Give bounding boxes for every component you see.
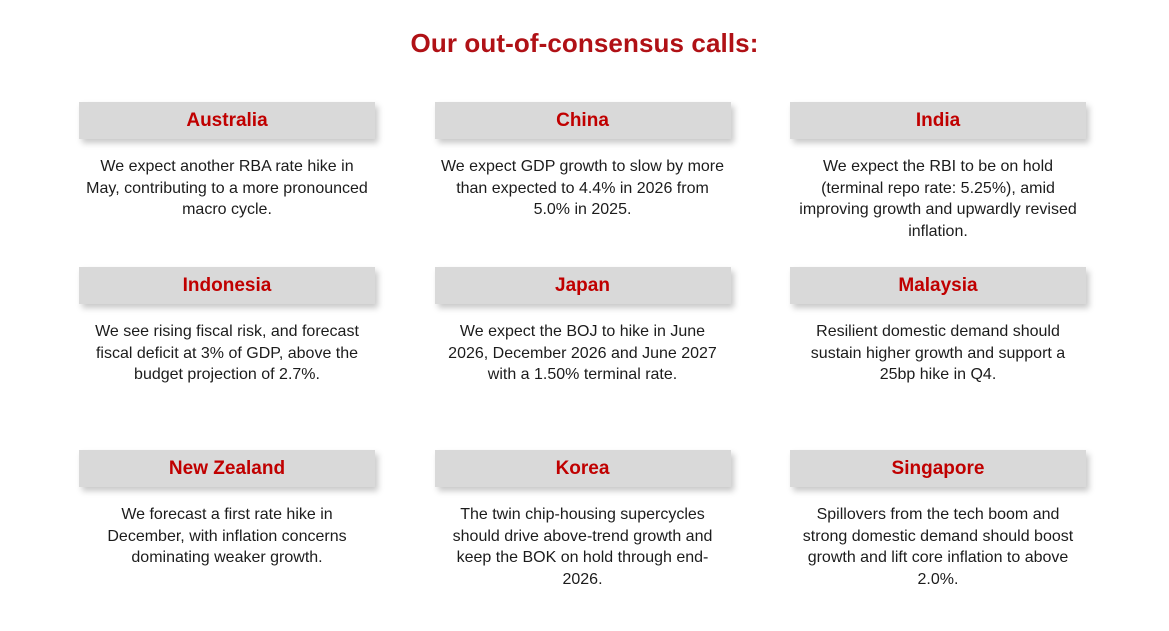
card-header-bar: New Zealand xyxy=(79,450,375,487)
country-card-korea[interactable]: Korea The twin chip-housing supercycles … xyxy=(435,450,731,600)
country-card-grid: Australia We expect another RBA rate hik… xyxy=(79,102,1086,600)
country-card-new-zealand[interactable]: New Zealand We forecast a first rate hik… xyxy=(79,450,375,600)
country-card-japan[interactable]: Japan We expect the BOJ to hike in June … xyxy=(435,267,731,450)
country-card-india[interactable]: India We expect the RBI to be on hold (t… xyxy=(790,102,1086,267)
card-header-bar: Australia xyxy=(79,102,375,139)
country-card-singapore[interactable]: Singapore Spillovers from the tech boom … xyxy=(790,450,1086,600)
country-call-text: We expect another RBA rate hike in May, … xyxy=(79,156,375,221)
country-name-label: New Zealand xyxy=(169,459,285,479)
country-card-indonesia[interactable]: Indonesia We see rising fiscal risk, and… xyxy=(79,267,375,450)
country-call-text: We forecast a first rate hike in Decembe… xyxy=(79,504,375,569)
country-name-label: Singapore xyxy=(892,459,985,479)
country-card-malaysia[interactable]: Malaysia Resilient domestic demand shoul… xyxy=(790,267,1086,450)
country-name-label: Korea xyxy=(556,459,610,479)
card-header-bar: India xyxy=(790,102,1086,139)
country-name-label: Malaysia xyxy=(898,276,977,296)
country-name-label: Indonesia xyxy=(183,276,272,296)
page-title: Our out-of-consensus calls: xyxy=(0,28,1169,58)
card-row: Australia We expect another RBA rate hik… xyxy=(79,102,1086,267)
country-call-text: Resilient domestic demand should sustain… xyxy=(790,321,1086,386)
country-name-label: Australia xyxy=(186,111,267,131)
card-header-bar: Malaysia xyxy=(790,267,1086,304)
country-card-china[interactable]: China We expect GDP growth to slow by mo… xyxy=(435,102,731,267)
card-header-bar: Singapore xyxy=(790,450,1086,487)
country-call-text: Spillovers from the tech boom and strong… xyxy=(790,504,1086,590)
card-row: New Zealand We forecast a first rate hik… xyxy=(79,450,1086,600)
country-name-label: Japan xyxy=(555,276,610,296)
card-row: Indonesia We see rising fiscal risk, and… xyxy=(79,267,1086,450)
card-header-bar: Korea xyxy=(435,450,731,487)
country-call-text: We expect GDP growth to slow by more tha… xyxy=(435,156,731,221)
country-call-text: We expect the BOJ to hike in June 2026, … xyxy=(435,321,731,386)
card-header-bar: Japan xyxy=(435,267,731,304)
card-header-bar: China xyxy=(435,102,731,139)
country-call-text: We expect the RBI to be on hold (termina… xyxy=(790,156,1086,242)
slide-canvas: Our out-of-consensus calls: Australia We… xyxy=(0,0,1169,631)
country-card-australia[interactable]: Australia We expect another RBA rate hik… xyxy=(79,102,375,267)
country-name-label: India xyxy=(916,111,960,131)
country-name-label: China xyxy=(556,111,609,131)
country-call-text: We see rising fiscal risk, and forecast … xyxy=(79,321,375,386)
card-header-bar: Indonesia xyxy=(79,267,375,304)
country-call-text: The twin chip-housing supercycles should… xyxy=(435,504,731,590)
